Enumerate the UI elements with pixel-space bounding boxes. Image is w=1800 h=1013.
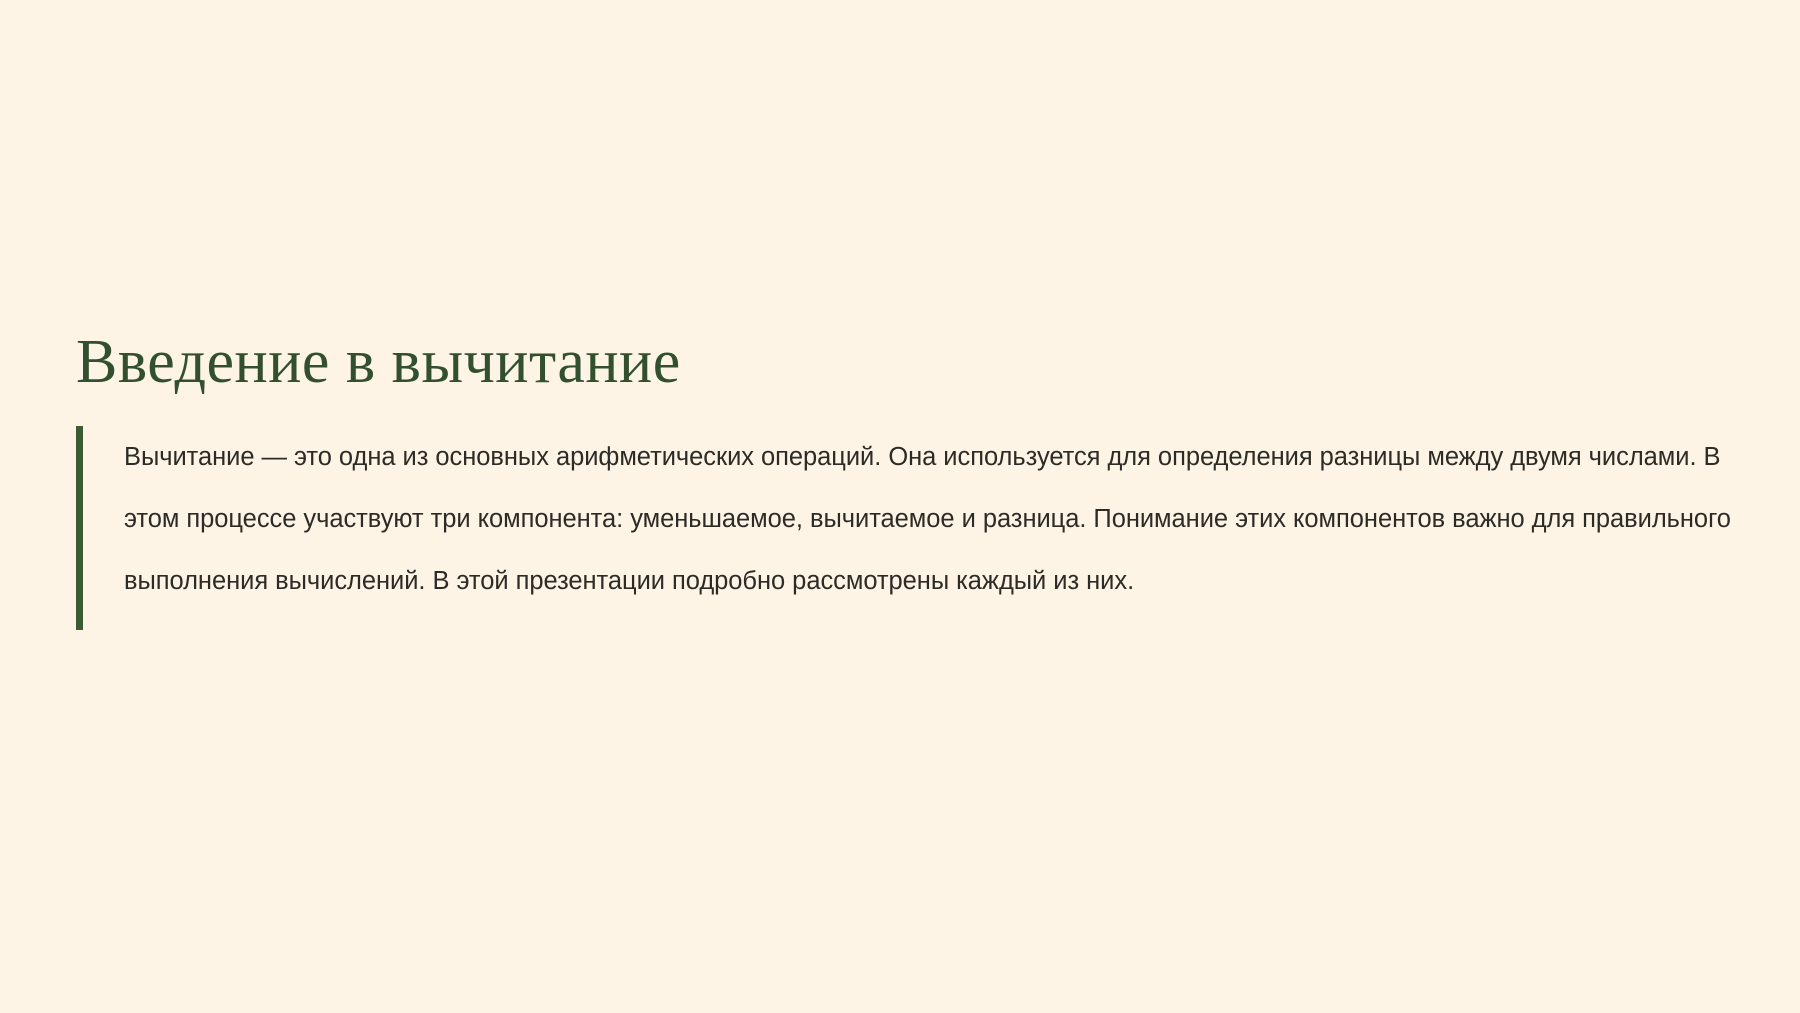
slide-content: Введение в вычитание Вычитание — это одн… bbox=[76, 330, 1736, 630]
body-paragraph: Вычитание — это одна из основных арифмет… bbox=[124, 426, 1736, 612]
accent-bar bbox=[76, 426, 83, 630]
callout-block: Вычитание — это одна из основных арифмет… bbox=[76, 426, 1736, 630]
page-title: Введение в вычитание bbox=[76, 330, 1736, 396]
presentation-slide: Введение в вычитание Вычитание — это одн… bbox=[0, 0, 1800, 1013]
